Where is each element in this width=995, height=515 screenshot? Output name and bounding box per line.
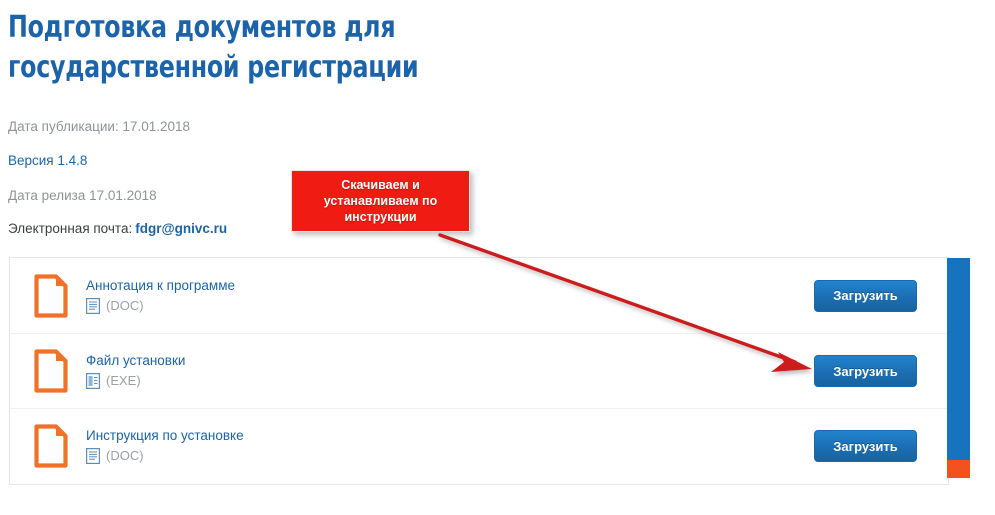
table-row: Инструкция по установке (DOC) Загрузить: [10, 408, 948, 483]
version-label: Версия 1.4.8: [8, 153, 87, 169]
document-icon: [34, 424, 68, 468]
side-scroll-accent[interactable]: [947, 460, 970, 478]
file-type-label: (EXE): [106, 373, 141, 389]
side-scroll-indicator[interactable]: [947, 258, 970, 478]
publication-date: Дата публикации: 17.01.2018: [8, 119, 190, 135]
document-icon: [34, 349, 68, 393]
download-button[interactable]: Загрузить: [814, 280, 917, 312]
email-row: Электронная почта:fdgr@gnivc.ru: [8, 221, 227, 237]
file-title-link[interactable]: Аннотация к программе: [86, 277, 235, 295]
doc-file-icon: [86, 448, 100, 464]
side-scroll-thumb[interactable]: [947, 258, 970, 460]
download-button[interactable]: Загрузить: [814, 355, 917, 387]
file-type-label: (DOC): [106, 448, 144, 464]
downloads-panel: Аннотация к программе (DOC) Загрузить: [9, 257, 949, 485]
annotation-callout-text: Скачиваем и устанавливаем по инструкции: [292, 177, 469, 225]
email-label: Электронная почта:: [8, 221, 132, 236]
table-row: Аннотация к программе (DOC) Загрузить: [10, 258, 948, 333]
document-icon: [34, 274, 68, 318]
table-row: Файл установки (EXE) Загрузить: [10, 333, 948, 408]
email-link[interactable]: fdgr@gnivc.ru: [135, 221, 227, 236]
annotation-callout: Скачиваем и устанавливаем по инструкции: [291, 170, 470, 232]
page-title: Подготовка документов для государственно…: [8, 8, 615, 88]
file-type-label: (DOC): [106, 298, 144, 314]
release-date: Дата релиза 17.01.2018: [8, 188, 157, 204]
exe-file-icon: [86, 373, 100, 389]
file-title-link[interactable]: Файл установки: [86, 352, 185, 370]
file-title-link[interactable]: Инструкция по установке: [86, 427, 244, 445]
doc-file-icon: [86, 298, 100, 314]
download-button[interactable]: Загрузить: [814, 430, 917, 462]
